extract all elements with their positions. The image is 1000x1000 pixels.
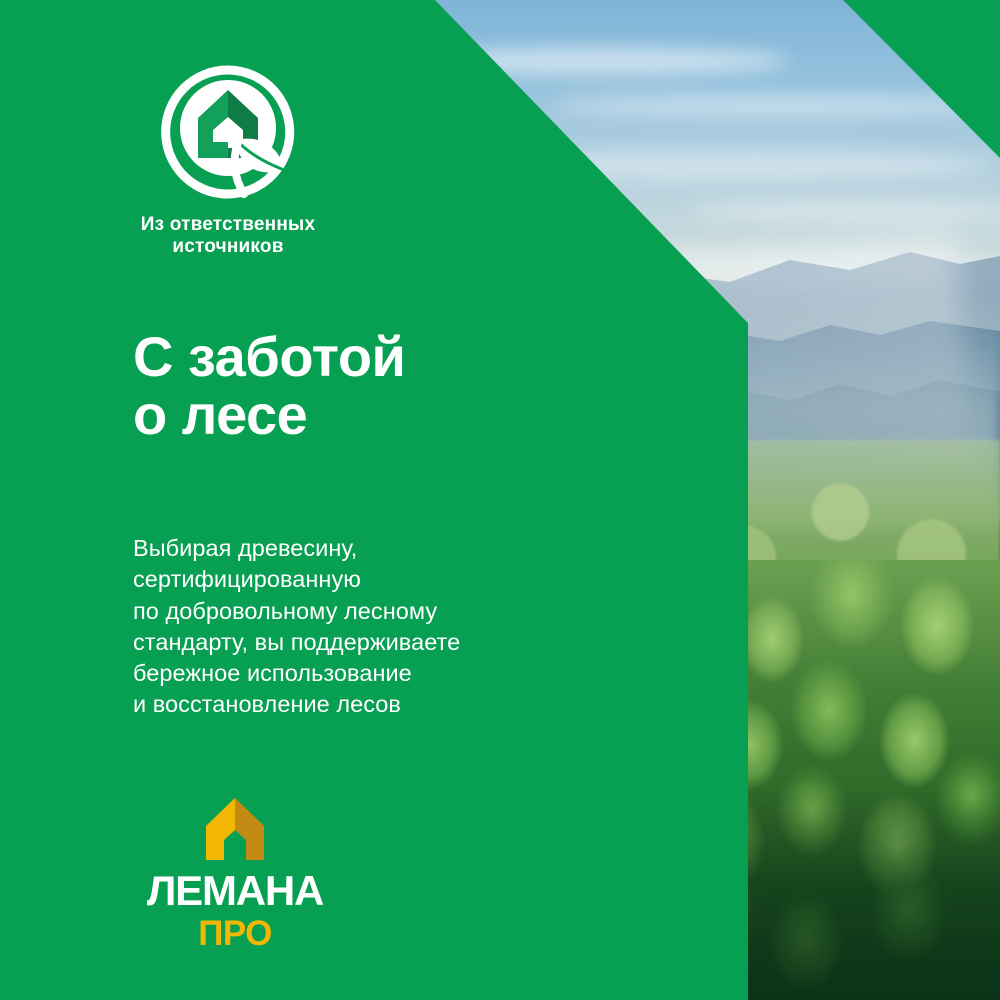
body-line-1: Выбирая древесину, [133,533,460,564]
poster-content: Из ответственных источников С заботой о … [0,0,1000,1000]
body-line-5: бережное использование [133,658,460,689]
responsible-sources-badge: Из ответственных источников [133,62,463,258]
body-paragraph: Выбирая древесину, сертифицированную по … [133,533,460,721]
body-line-3: по добровольному лесному [133,596,460,627]
brand-lockup: ЛЕМАНА ПРО [140,796,330,951]
page-title: С заботой о лесе [133,328,405,444]
eco-caption-line-1: Из ответственных [128,214,328,236]
headline-line-2: о лесе [133,386,405,444]
poster-canvas: Из ответственных источников С заботой о … [0,0,1000,1000]
brand-name: ЛЕМАНА [140,870,330,912]
responsible-sources-seal-icon [158,62,298,202]
brand-subname: ПРО [140,916,330,951]
lemana-house-logo-icon [200,796,270,862]
headline-line-1: С заботой [133,328,405,386]
body-line-2: сертифицированную [133,564,460,595]
body-line-6: и восстановление лесов [133,689,460,720]
eco-caption-line-2: источников [128,236,328,258]
body-line-4: стандарту, вы поддерживаете [133,627,460,658]
responsible-sources-caption: Из ответственных источников [128,214,328,258]
